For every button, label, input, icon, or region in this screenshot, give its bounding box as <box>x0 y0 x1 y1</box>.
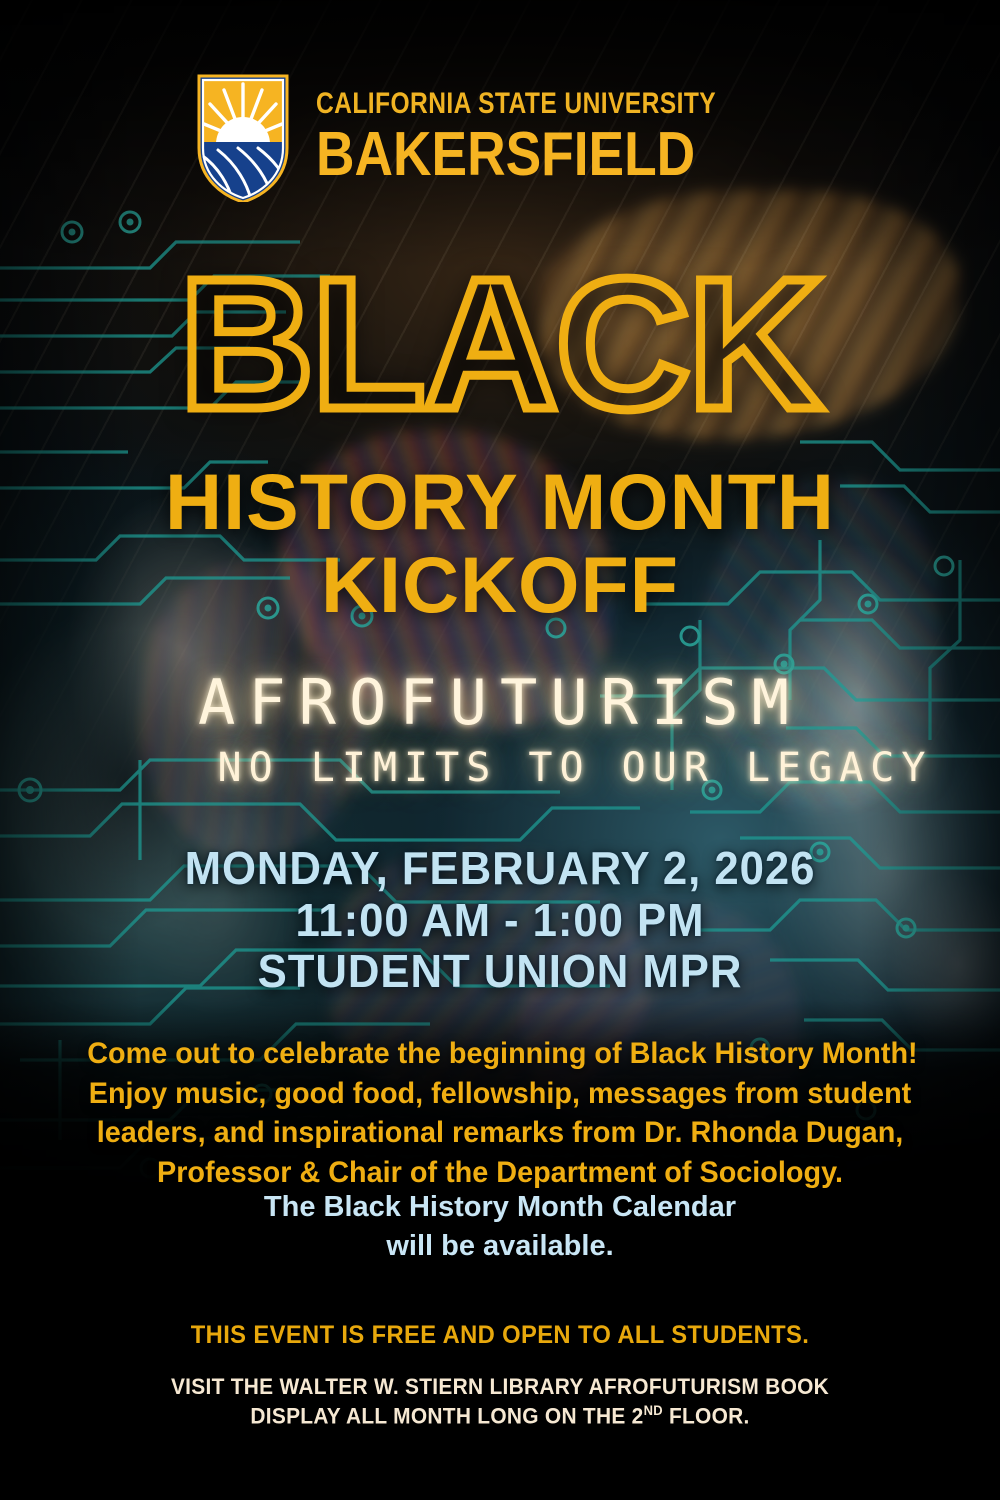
csub-shield-logo-icon <box>196 74 290 202</box>
event-time: 11:00 AM - 1:00 PM <box>25 895 975 947</box>
university-name: CALIFORNIA STATE UNIVERSITY <box>316 89 716 119</box>
calendar-note-line1: The Black History Month Calendar <box>0 1188 1000 1227</box>
theme-tagline: NO LIMITS TO OUR LEGACY <box>0 748 1000 788</box>
title-kickoff: KICKOFF <box>0 545 1000 624</box>
theme-afrofuturism: AFROFUTURISM <box>0 672 1000 734</box>
event-location: STUDENT UNION MPR <box>25 946 975 998</box>
event-details: MONDAY, FEBRUARY 2, 2026 11:00 AM - 1:00… <box>0 843 1000 998</box>
theme-block: AFROFUTURISM NO LIMITS TO OUR LEGACY <box>0 672 1000 788</box>
library-display-note: VISIT THE WALTER W. STIERN LIBRARY AFROF… <box>25 1373 975 1431</box>
title-history-month: HISTORY MONTH <box>0 462 1000 541</box>
event-date: MONDAY, FEBRUARY 2, 2026 <box>25 843 975 895</box>
event-poster: CALIFORNIA STATE UNIVERSITY BAKERSFIELD … <box>0 0 1000 1500</box>
free-event-notice: THIS EVENT IS FREE AND OPEN TO ALL STUDE… <box>25 1321 975 1350</box>
library-note-line2-pre: DISPLAY ALL MONTH LONG ON THE 2 <box>250 1403 643 1428</box>
library-note-ordinal: ND <box>644 1403 663 1418</box>
calendar-note-line2: will be available. <box>0 1227 1000 1266</box>
library-note-line2-post: FLOOR. <box>663 1403 750 1428</box>
event-description: Come out to celebrate the beginning of B… <box>87 1034 913 1192</box>
description-line: Enjoy music, good food, fellowship, mess… <box>87 1074 913 1114</box>
university-wordmark: CALIFORNIA STATE UNIVERSITY BAKERSFIELD <box>316 89 804 186</box>
description-line: Come out to celebrate the beginning of B… <box>87 1034 913 1074</box>
campus-name: BAKERSFIELD <box>316 123 695 186</box>
library-note-line2: DISPLAY ALL MONTH LONG ON THE 2ND FLOOR. <box>25 1402 975 1431</box>
title-black: BLACK <box>0 256 1000 435</box>
description-line: leaders, and inspirational remarks from … <box>87 1113 913 1153</box>
university-header: CALIFORNIA STATE UNIVERSITY BAKERSFIELD <box>0 74 1000 202</box>
library-note-line1: VISIT THE WALTER W. STIERN LIBRARY AFROF… <box>25 1373 975 1402</box>
description-line: Professor & Chair of the Department of S… <box>87 1153 913 1193</box>
calendar-note: The Black History Month Calendar will be… <box>0 1188 1000 1266</box>
